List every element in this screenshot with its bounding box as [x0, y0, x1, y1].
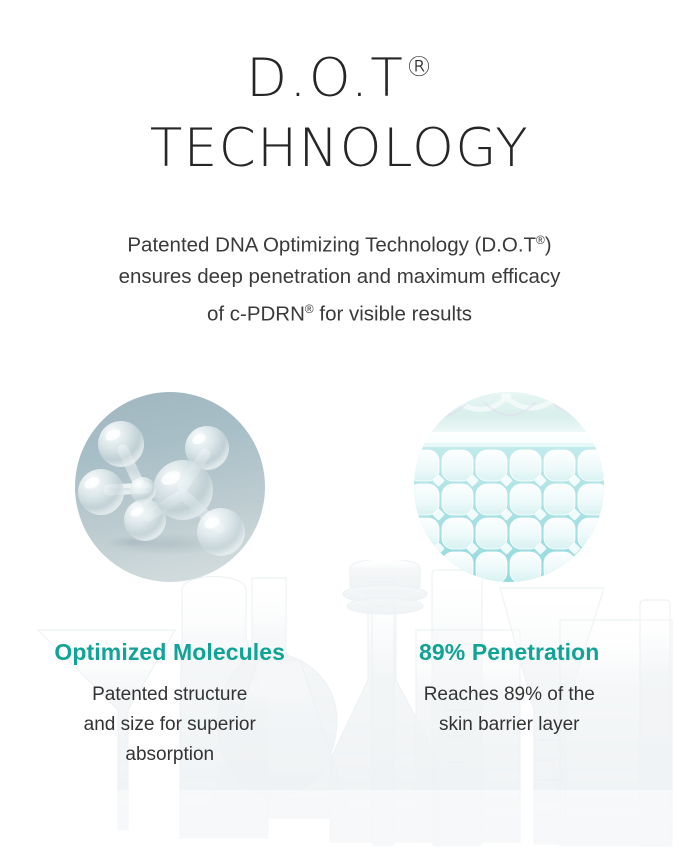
- subtitle-line-one-before: Patented DNA Optimizing Technology (D.O.…: [127, 233, 536, 256]
- feature-columns: Optimized Molecules Patented structure a…: [0, 392, 679, 770]
- feature-body-optimized-molecules: Patented structure and size for superior…: [84, 680, 256, 770]
- optimized-molecules-illustration: [75, 392, 265, 582]
- registered-trademark-icon: ®: [305, 302, 314, 316]
- title-line-two: TECHNOLOGY: [0, 122, 679, 175]
- body-line: Patented structure: [84, 680, 256, 710]
- page-title: D.O.T® TECHNOLOGY: [0, 52, 679, 175]
- subtitle-line-one: Patented DNA Optimizing Technology (D.O.…: [0, 224, 679, 261]
- feature-optimized-molecules: Optimized Molecules Patented structure a…: [0, 392, 340, 770]
- subtitle-line-one-after: ): [545, 233, 552, 256]
- subtitle-line-three-before: of c-PDRN: [207, 303, 305, 326]
- dot-technology-infographic: D.O.T® TECHNOLOGY Patented DNA Optimizin…: [0, 0, 679, 849]
- title-line-one: D.O.T®: [0, 52, 679, 105]
- subtitle-block: Patented DNA Optimizing Technology (D.O.…: [0, 224, 679, 331]
- body-line: skin barrier layer: [424, 710, 595, 740]
- feature-body-penetration: Reaches 89% of the skin barrier layer: [424, 680, 595, 740]
- body-line: absorption: [84, 740, 256, 770]
- subtitle-line-two: ensures deep penetration and maximum eff…: [0, 261, 679, 293]
- body-line: and size for superior: [84, 710, 256, 740]
- title-dot-text: D.O.T: [246, 48, 405, 109]
- subtitle-line-three-after: for visible results: [314, 303, 472, 326]
- feature-title-penetration: 89% Penetration: [419, 639, 599, 666]
- skin-penetration-illustration: [414, 392, 604, 582]
- feature-penetration: 89% Penetration Reaches 89% of the skin …: [340, 392, 679, 770]
- registered-trademark-icon: ®: [536, 233, 545, 247]
- body-line: Reaches 89% of the: [424, 680, 595, 710]
- registered-trademark-icon: ®: [405, 51, 433, 83]
- feature-title-optimized-molecules: Optimized Molecules: [54, 639, 285, 666]
- subtitle-line-three: of c-PDRN® for visible results: [0, 293, 679, 330]
